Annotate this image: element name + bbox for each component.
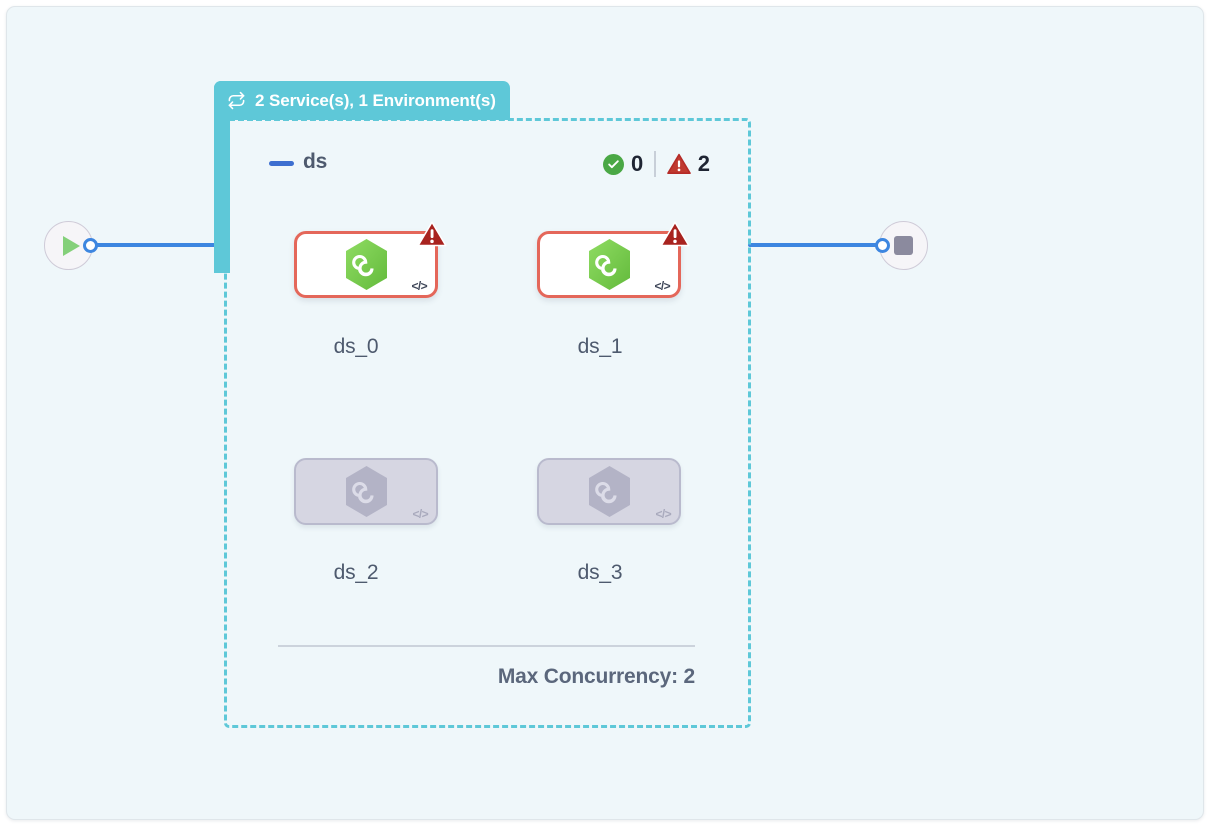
edge-start-to-group[interactable] bbox=[93, 243, 225, 247]
play-icon bbox=[63, 236, 80, 256]
group-container[interactable] bbox=[224, 118, 751, 728]
code-glyph: </> bbox=[412, 507, 428, 521]
warning-triangle-icon bbox=[417, 220, 447, 248]
group-tab-label: 2 Service(s), 1 Environment(s) bbox=[255, 91, 496, 111]
edge-group-to-end[interactable] bbox=[748, 243, 882, 247]
status-ok: 0 bbox=[603, 151, 643, 177]
repeat-icon bbox=[227, 91, 246, 110]
group-header: ds 0 2 bbox=[265, 147, 710, 181]
code-glyph: </> bbox=[655, 507, 671, 521]
service-label-ds_1: ds_1 bbox=[528, 335, 672, 359]
max-concurrency-label: Max Concurrency: 2 bbox=[278, 665, 695, 689]
service-node-ds_3[interactable]: </> bbox=[537, 458, 681, 525]
group-status-summary: 0 2 bbox=[603, 147, 710, 181]
end-node-input-handle[interactable] bbox=[875, 238, 890, 253]
service-label-ds_0: ds_0 bbox=[284, 335, 428, 359]
status-divider bbox=[654, 151, 656, 177]
status-warning: 2 bbox=[667, 151, 710, 177]
status-warning-count: 2 bbox=[698, 151, 710, 177]
start-node-output-handle[interactable] bbox=[83, 238, 98, 253]
service-node-ds_0[interactable]: </> bbox=[294, 231, 438, 298]
code-glyph: </> bbox=[411, 279, 427, 293]
service-node-ds_2[interactable]: </> bbox=[294, 458, 438, 525]
minus-icon[interactable] bbox=[269, 161, 294, 166]
warning-triangle-icon bbox=[660, 220, 690, 248]
service-label-ds_2: ds_2 bbox=[284, 561, 428, 585]
stop-icon bbox=[894, 236, 913, 255]
footer-divider bbox=[278, 645, 695, 647]
status-ok-count: 0 bbox=[631, 151, 643, 177]
group-tab[interactable]: 2 Service(s), 1 Environment(s) bbox=[214, 81, 510, 120]
check-circle-icon bbox=[603, 154, 624, 175]
service-label-ds_3: ds_3 bbox=[528, 561, 672, 585]
flow-canvas[interactable]: 2 Service(s), 1 Environment(s) ds 0 bbox=[6, 6, 1204, 820]
nodejs-hexagon-icon bbox=[343, 238, 390, 291]
nodejs-hexagon-icon bbox=[343, 465, 390, 518]
service-node-ds_1[interactable]: </> bbox=[537, 231, 681, 298]
code-glyph: </> bbox=[654, 279, 670, 293]
nodejs-hexagon-icon bbox=[586, 238, 633, 291]
nodejs-hexagon-icon bbox=[586, 465, 633, 518]
group-name-label: ds bbox=[303, 150, 327, 174]
warning-triangle-icon bbox=[667, 153, 691, 175]
